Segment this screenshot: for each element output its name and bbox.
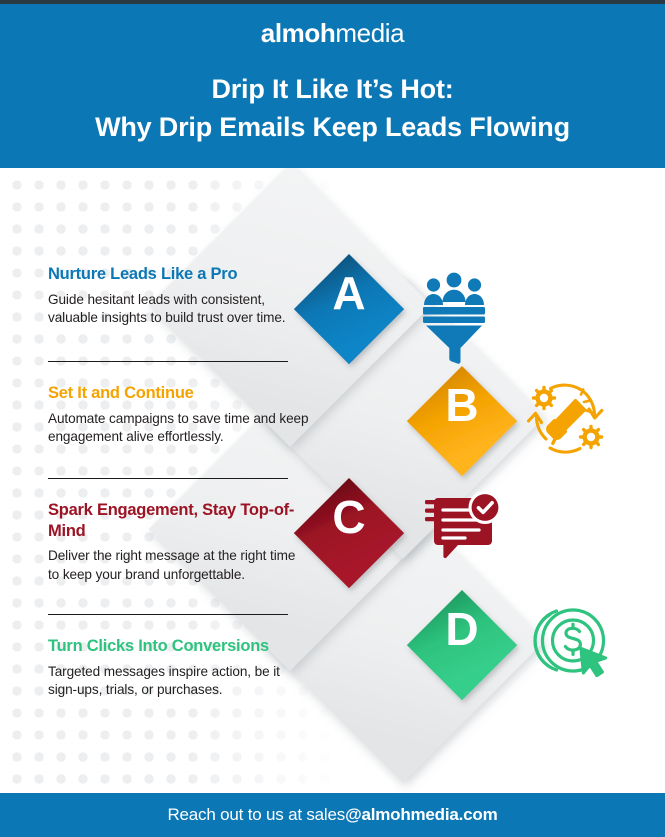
- step-letter-a: A: [332, 267, 365, 319]
- step-description-b: Automate campaigns to save time and keep…: [48, 410, 310, 448]
- page-header: almohmedia Drip It Like It’s Hot: Why Dr…: [0, 4, 665, 168]
- step-title-b: Set It and Continue: [48, 383, 310, 404]
- brand-logo: almohmedia: [0, 20, 665, 46]
- section-divider-3: [48, 614, 288, 615]
- step-title-d: Turn Clicks Into Conversions: [48, 636, 310, 657]
- page-footer: Reach out to us at sales@almohmedia.com: [0, 793, 665, 837]
- step-letter-b: B: [445, 379, 478, 431]
- step-description-c: Deliver the right message at the right t…: [48, 547, 310, 585]
- page-title-line-2: Why Drip Emails Keep Leads Flowing: [26, 108, 639, 146]
- step-block-c: Spark Engagement, Stay Top-of-Mind Deliv…: [48, 500, 310, 585]
- step-letter-c: C: [332, 491, 365, 543]
- infographic-page: almohmedia Drip It Like It’s Hot: Why Dr…: [0, 0, 665, 837]
- step-title-a: Nurture Leads Like a Pro: [48, 264, 310, 285]
- step-block-a: Nurture Leads Like a Pro Guide hesitant …: [48, 264, 310, 328]
- section-divider-2: [48, 478, 288, 479]
- brand-logo-strong: almoh: [261, 18, 336, 48]
- step-letter-d: D: [445, 603, 478, 655]
- footer-contact-prefix: Reach out to us at sales: [167, 805, 345, 824]
- footer-contact-email[interactable]: @almohmedia.com: [345, 805, 497, 824]
- step-description-a: Guide hesitant leads with consistent, va…: [48, 291, 310, 329]
- step-block-b: Set It and Continue Automate campaigns t…: [48, 383, 310, 447]
- step-description-d: Targeted messages inspire action, be it …: [48, 663, 310, 701]
- dollar-coin-click-icon: [535, 610, 605, 676]
- page-title-line-1: Drip It Like It’s Hot:: [26, 70, 639, 108]
- page-title: Drip It Like It’s Hot: Why Drip Emails K…: [0, 70, 665, 147]
- section-divider-1: [48, 361, 288, 362]
- brand-logo-light: media: [335, 18, 404, 48]
- footer-contact: Reach out to us at sales@almohmedia.com: [167, 805, 497, 825]
- megaphone-gears-automation-icon: [529, 385, 602, 452]
- step-title-c: Spark Engagement, Stay Top-of-Mind: [48, 500, 310, 541]
- step-block-d: Turn Clicks Into Conversions Targeted me…: [48, 636, 310, 700]
- diamond-step-graphic: A B: [0, 168, 665, 800]
